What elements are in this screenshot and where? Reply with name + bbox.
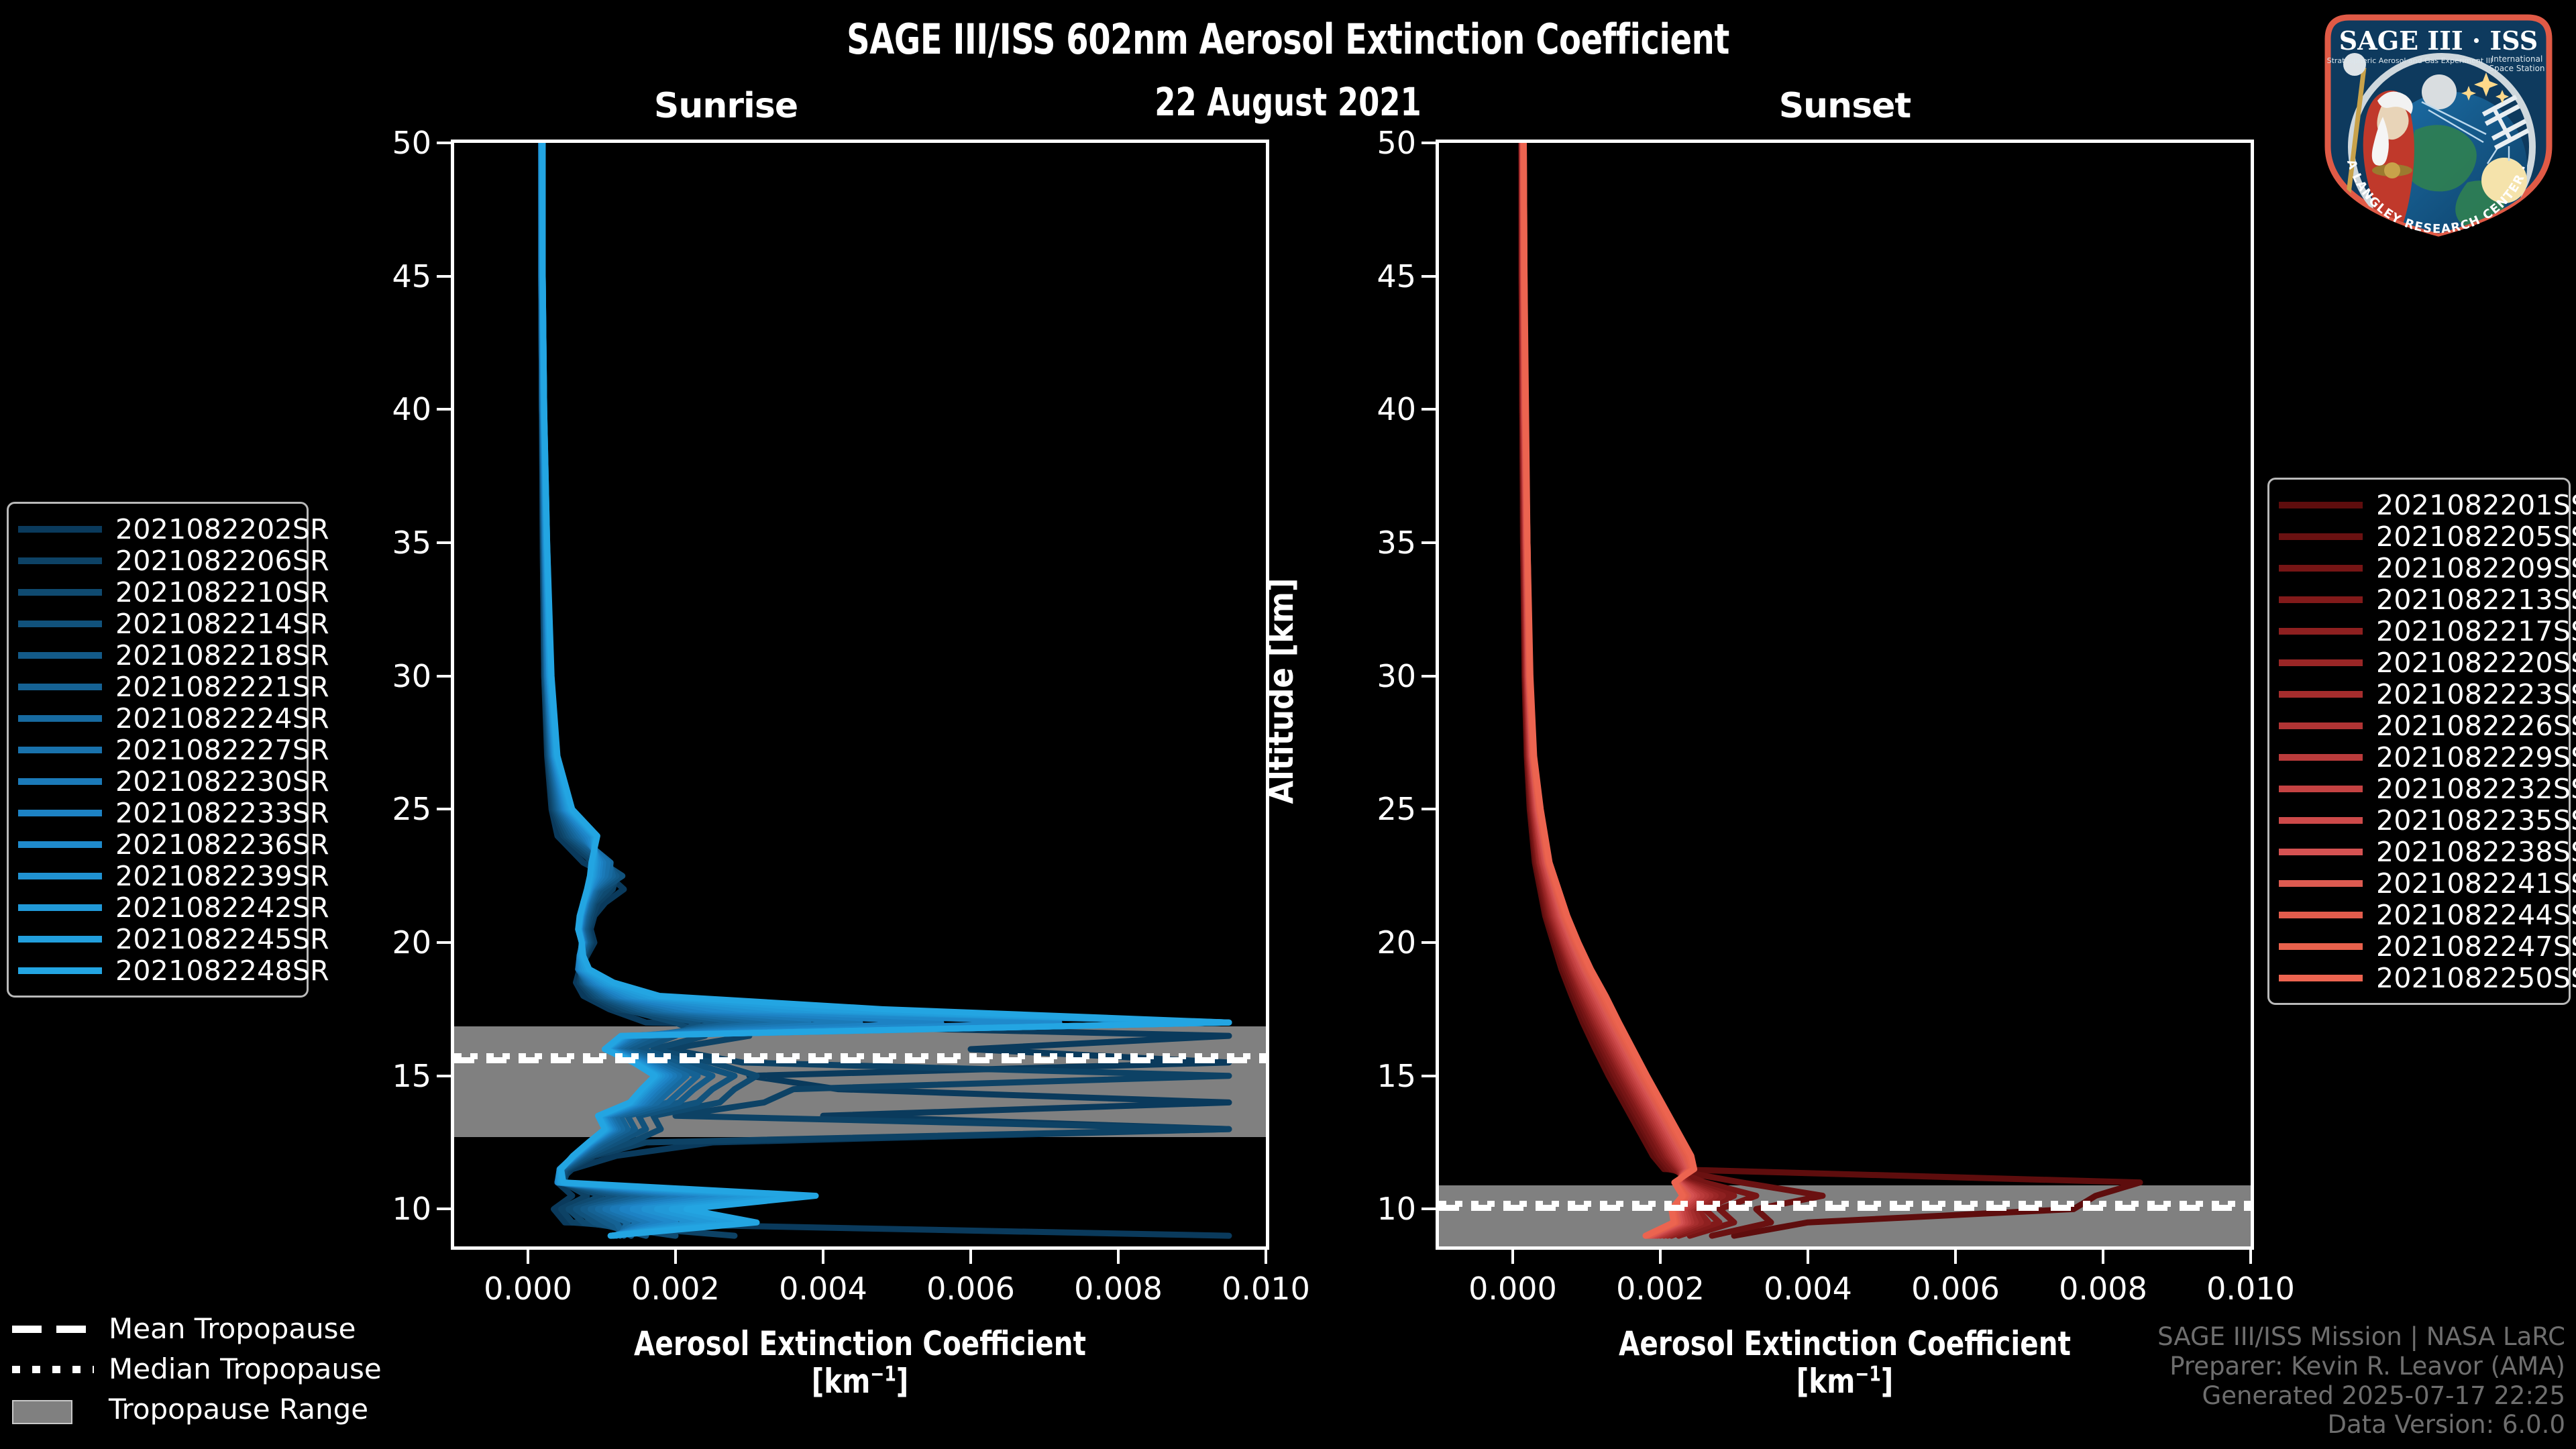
y-tick-label: 50 bbox=[1377, 125, 1416, 161]
legend-item-2021082247SS[interactable]: 2021082247SS bbox=[2279, 930, 2557, 962]
x-tick-label: 0.002 bbox=[1616, 1271, 1705, 1307]
sunset-legend[interactable]: 2021082201SS2021082205SS2021082209SS2021… bbox=[2267, 478, 2571, 1005]
legend-item-2021082206SR[interactable]: 2021082206SR bbox=[18, 545, 294, 576]
legend-item-2021082227SR[interactable]: 2021082227SR bbox=[18, 734, 294, 765]
legend-color-swatch bbox=[18, 841, 102, 848]
legend-color-swatch bbox=[2279, 628, 2363, 635]
y-tick-label: 15 bbox=[1377, 1058, 1416, 1094]
legend-color-swatch bbox=[2279, 817, 2363, 824]
sunrise-x-axis-title-line2: [km−1] bbox=[492, 1362, 1228, 1400]
y-tick-mark bbox=[1421, 541, 1439, 544]
legend-label: 2021082210SR bbox=[115, 576, 329, 608]
y-tick-label: 30 bbox=[1377, 658, 1416, 694]
legend-item-2021082205SS[interactable]: 2021082205SS bbox=[2279, 521, 2557, 552]
y-tick-mark bbox=[1421, 1207, 1439, 1210]
legend-color-swatch bbox=[2279, 943, 2363, 950]
legend-label: 2021082239SR bbox=[115, 860, 329, 892]
y-tick-mark bbox=[437, 941, 454, 944]
legend-label: 2021082241SS bbox=[2376, 867, 2576, 900]
y-tick-label: 40 bbox=[1377, 391, 1416, 427]
sunrise-plot-axes: 101520253035404550 0.0000.0020.0040.0060… bbox=[451, 140, 1269, 1250]
legend-item-2021082201SS[interactable]: 2021082201SS bbox=[2279, 489, 2557, 521]
legend-color-swatch bbox=[18, 967, 102, 974]
legend-label: 2021082229SS bbox=[2376, 741, 2576, 773]
series-line bbox=[1521, 143, 1823, 1236]
sage-iii-iss-mission-patch-logo: SAGE III · ISS Stratospheric Aerosol and… bbox=[2308, 3, 2569, 237]
x-tick-label: 0.008 bbox=[1074, 1271, 1163, 1307]
legend-item-2021082230SR[interactable]: 2021082230SR bbox=[18, 765, 294, 797]
legend-color-swatch bbox=[2279, 502, 2363, 508]
legend-color-swatch bbox=[18, 526, 102, 533]
legend-color-swatch bbox=[2279, 849, 2363, 855]
logo-subtitle-left: Stratospheric Aerosol and Gas Experiment… bbox=[2327, 56, 2493, 65]
legend-label: 2021082221SR bbox=[115, 671, 329, 703]
legend-color-swatch bbox=[18, 684, 102, 690]
legend-item-2021082220SS[interactable]: 2021082220SS bbox=[2279, 647, 2557, 678]
legend-label: 2021082233SR bbox=[115, 797, 329, 829]
legend-item-2021082235SS[interactable]: 2021082235SS bbox=[2279, 804, 2557, 836]
y-tick-label: 20 bbox=[392, 924, 431, 961]
legend-label: 2021082218SR bbox=[115, 639, 329, 672]
sunrise-panel-title: Sunrise bbox=[585, 86, 867, 126]
y-tick-label: 50 bbox=[392, 125, 431, 161]
legend-item-2021082209SS[interactable]: 2021082209SS bbox=[2279, 552, 2557, 584]
legend-label: 2021082245SR bbox=[115, 923, 329, 955]
y-tick-label: 35 bbox=[1377, 525, 1416, 561]
y-tick-mark bbox=[1421, 675, 1439, 678]
figure-root: SAGE III/ISS 602nm Aerosol Extinction Co… bbox=[0, 0, 2576, 1449]
x-tick-label: 0.004 bbox=[779, 1271, 867, 1307]
legend-label: 2021082201SS bbox=[2376, 489, 2576, 521]
legend-color-swatch bbox=[18, 747, 102, 753]
legend-label: 2021082226SS bbox=[2376, 710, 2576, 742]
y-tick-label: 45 bbox=[1377, 258, 1416, 294]
y-tick-mark bbox=[1421, 941, 1439, 944]
legend-color-swatch bbox=[18, 589, 102, 596]
y-tick-mark bbox=[437, 675, 454, 678]
legend-color-swatch bbox=[2279, 754, 2363, 761]
legend-label: 2021082227SR bbox=[115, 734, 329, 766]
y-tick-label: 25 bbox=[392, 791, 431, 827]
y-tick-mark bbox=[1421, 808, 1439, 810]
legend-label: 2021082209SS bbox=[2376, 552, 2576, 584]
x-tick-label: 0.000 bbox=[1468, 1271, 1557, 1307]
dashed-line-icon bbox=[12, 1320, 94, 1337]
legend-item-tropopause-range: Tropopause Range bbox=[12, 1389, 327, 1429]
legend-item-2021082221SR[interactable]: 2021082221SR bbox=[18, 671, 294, 702]
logo-subtitle-right-2: Space Station bbox=[2489, 64, 2544, 73]
legend-label: 2021082238SS bbox=[2376, 836, 2576, 868]
sunset-x-axis-title-line2: [km−1] bbox=[1477, 1362, 2213, 1400]
legend-label: 2021082232SS bbox=[2376, 773, 2576, 805]
legend-label: 2021082230SR bbox=[115, 765, 329, 798]
legend-item-2021082210SR[interactable]: 2021082210SR bbox=[18, 576, 294, 608]
legend-item-2021082202SR[interactable]: 2021082202SR bbox=[18, 513, 294, 545]
sunset-plot-axes: 101520253035404550 0.0000.0020.0040.0060… bbox=[1436, 140, 2254, 1250]
y-tick-mark bbox=[437, 808, 454, 810]
credits-preparer: Preparer: Kevin R. Leavor (AMA) bbox=[2157, 1352, 2565, 1381]
legend-item-2021082224SR[interactable]: 2021082224SR bbox=[18, 702, 294, 734]
x-tick-mark bbox=[1265, 1246, 1267, 1264]
x-tick-label: 0.002 bbox=[631, 1271, 720, 1307]
legend-color-swatch bbox=[18, 778, 102, 785]
legend-label: 2021082202SR bbox=[115, 513, 329, 545]
x-tick-label: 0.006 bbox=[1911, 1271, 2000, 1307]
x-tick-mark bbox=[527, 1246, 529, 1264]
y-tick-label: 25 bbox=[1377, 791, 1416, 827]
y-tick-mark bbox=[1421, 408, 1439, 411]
sunset-plot-area bbox=[1439, 143, 2251, 1246]
y-tick-mark bbox=[437, 275, 454, 278]
y-tick-label: 30 bbox=[392, 658, 431, 694]
y-tick-label: 35 bbox=[392, 525, 431, 561]
page-title: SAGE III/ISS 602nm Aerosol Extinction Co… bbox=[180, 15, 2396, 64]
sunrise-legend[interactable]: 2021082202SR2021082206SR2021082210SR2021… bbox=[7, 502, 309, 998]
y-tick-mark bbox=[437, 541, 454, 544]
legend-color-swatch bbox=[2279, 912, 2363, 918]
legend-item-2021082233SR[interactable]: 2021082233SR bbox=[18, 797, 294, 828]
y-tick-label: 20 bbox=[1377, 924, 1416, 961]
x-tick-label: 0.008 bbox=[2059, 1271, 2147, 1307]
legend-label: 2021082250SS bbox=[2376, 962, 2576, 994]
legend-item-2021082250SS[interactable]: 2021082250SS bbox=[2279, 962, 2557, 994]
legend-label: 2021082248SR bbox=[115, 955, 329, 987]
legend-label: 2021082247SS bbox=[2376, 930, 2576, 963]
legend-label-median-tropopause: Median Tropopause bbox=[109, 1352, 382, 1385]
y-tick-mark bbox=[1421, 1075, 1439, 1077]
filled-box-icon bbox=[12, 1400, 94, 1417]
sunset-panel-title: Sunset bbox=[1704, 86, 1986, 126]
legend-item-mean-tropopause: Mean Tropopause bbox=[12, 1308, 327, 1348]
x-tick-label: 0.010 bbox=[1222, 1271, 1310, 1307]
legend-label: 2021082205SS bbox=[2376, 521, 2576, 553]
legend-color-swatch bbox=[2279, 533, 2363, 540]
sunrise-x-axis-title: Aerosol Extinction Coefficient [km−1] bbox=[492, 1325, 1228, 1400]
legend-item-2021082242SR[interactable]: 2021082242SR bbox=[18, 892, 294, 923]
legend-color-swatch bbox=[2279, 691, 2363, 698]
legend-color-swatch bbox=[2279, 880, 2363, 887]
sunset-series-canvas bbox=[1439, 143, 2251, 1246]
x-tick-label: 0.010 bbox=[2206, 1271, 2295, 1307]
y-tick-label: 40 bbox=[392, 391, 431, 427]
y-tick-mark bbox=[437, 408, 454, 411]
legend-label-tropopause-range: Tropopause Range bbox=[109, 1393, 368, 1426]
legend-color-swatch bbox=[18, 715, 102, 722]
legend-item-2021082248SR[interactable]: 2021082248SR bbox=[18, 955, 294, 986]
legend-item-2021082213SS[interactable]: 2021082213SS bbox=[2279, 584, 2557, 615]
legend-color-swatch bbox=[18, 810, 102, 816]
y-tick-mark bbox=[1421, 142, 1439, 144]
series-line bbox=[541, 143, 808, 1236]
y-tick-label: 15 bbox=[392, 1058, 431, 1094]
legend-item-2021082226SS[interactable]: 2021082226SS bbox=[2279, 710, 2557, 741]
legend-item-2021082238SS[interactable]: 2021082238SS bbox=[2279, 836, 2557, 867]
legend-color-swatch bbox=[2279, 786, 2363, 792]
legend-label: 2021082236SR bbox=[115, 828, 329, 861]
legend-label: 2021082217SS bbox=[2376, 615, 2576, 647]
legend-color-swatch bbox=[18, 621, 102, 627]
credits-data-version: Data Version: 6.0.0 bbox=[2157, 1410, 2565, 1440]
legend-item-2021082218SR[interactable]: 2021082218SR bbox=[18, 639, 294, 671]
legend-label: 2021082223SS bbox=[2376, 678, 2576, 710]
y-tick-label: 10 bbox=[392, 1191, 431, 1227]
x-tick-mark bbox=[1659, 1246, 1662, 1264]
x-tick-mark bbox=[674, 1246, 677, 1264]
x-tick-mark bbox=[822, 1246, 824, 1264]
logo-title: SAGE III · ISS bbox=[2339, 25, 2538, 56]
legend-item-2021082214SR[interactable]: 2021082214SR bbox=[18, 608, 294, 639]
legend-item-2021082223SS[interactable]: 2021082223SS bbox=[2279, 678, 2557, 710]
x-tick-mark bbox=[1807, 1246, 1809, 1264]
x-tick-mark bbox=[2102, 1246, 2104, 1264]
x-tick-label: 0.000 bbox=[484, 1271, 572, 1307]
credits-mission: SAGE III/ISS Mission | NASA LaRC bbox=[2157, 1322, 2565, 1352]
sunset-x-axis-title-line1: Aerosol Extinction Coefficient bbox=[1477, 1325, 2213, 1362]
dotted-line-icon bbox=[12, 1360, 94, 1377]
legend-item-2021082239SR[interactable]: 2021082239SR bbox=[18, 860, 294, 892]
legend-color-swatch bbox=[18, 652, 102, 659]
legend-color-swatch bbox=[18, 904, 102, 911]
sunrise-median-tropopause-line bbox=[454, 1053, 1266, 1059]
legend-color-swatch bbox=[2279, 565, 2363, 572]
y-tick-mark bbox=[437, 142, 454, 144]
sunset-x-axis-title: Aerosol Extinction Coefficient [km−1] bbox=[1477, 1325, 2213, 1400]
x-tick-mark bbox=[969, 1246, 972, 1264]
y-tick-label: 45 bbox=[392, 258, 431, 294]
legend-item-median-tropopause: Median Tropopause bbox=[12, 1348, 327, 1389]
legend-color-swatch bbox=[2279, 722, 2363, 729]
x-tick-mark bbox=[1954, 1246, 1957, 1264]
legend-label-mean-tropopause: Mean Tropopause bbox=[109, 1312, 356, 1345]
legend-color-swatch bbox=[18, 557, 102, 564]
sunset-y-axis-title: Altitude [km] bbox=[1262, 578, 1301, 804]
x-tick-label: 0.006 bbox=[926, 1271, 1015, 1307]
logo-subtitle-right-1: International bbox=[2491, 54, 2543, 64]
legend-item-2021082241SS[interactable]: 2021082241SS bbox=[2279, 867, 2557, 899]
sunrise-plot-area bbox=[454, 143, 1266, 1246]
x-tick-mark bbox=[1511, 1246, 1514, 1264]
y-tick-label: 10 bbox=[1377, 1191, 1416, 1227]
legend-color-swatch bbox=[18, 936, 102, 943]
credits-generated: Generated 2025-07-17 22:25 bbox=[2157, 1381, 2565, 1411]
tropopause-legend: Mean Tropopause Median Tropopause Tropop… bbox=[12, 1308, 327, 1429]
date-title: 22 August 2021 bbox=[180, 79, 2396, 125]
legend-label: 2021082244SS bbox=[2376, 899, 2576, 931]
legend-item-2021082232SS[interactable]: 2021082232SS bbox=[2279, 773, 2557, 804]
sunset-median-tropopause-line bbox=[1439, 1201, 2251, 1207]
y-tick-mark bbox=[1421, 275, 1439, 278]
sunrise-series-canvas bbox=[454, 143, 1266, 1246]
x-tick-mark bbox=[1117, 1246, 1120, 1264]
legend-label: 2021082235SS bbox=[2376, 804, 2576, 837]
legend-color-swatch bbox=[2279, 975, 2363, 981]
x-tick-label: 0.004 bbox=[1764, 1271, 1852, 1307]
x-tick-mark bbox=[2249, 1246, 2252, 1264]
y-tick-mark bbox=[437, 1207, 454, 1210]
legend-item-2021082217SS[interactable]: 2021082217SS bbox=[2279, 615, 2557, 647]
legend-label: 2021082224SR bbox=[115, 702, 329, 735]
legend-color-swatch bbox=[18, 873, 102, 879]
credits-block: SAGE III/ISS Mission | NASA LaRC Prepare… bbox=[2157, 1322, 2565, 1440]
legend-item-2021082229SS[interactable]: 2021082229SS bbox=[2279, 741, 2557, 773]
legend-color-swatch bbox=[2279, 659, 2363, 666]
legend-label: 2021082213SS bbox=[2376, 584, 2576, 616]
legend-color-swatch bbox=[2279, 596, 2363, 603]
sunrise-x-axis-title-line1: Aerosol Extinction Coefficient bbox=[492, 1325, 1228, 1362]
legend-label: 2021082220SS bbox=[2376, 647, 2576, 679]
legend-item-2021082244SS[interactable]: 2021082244SS bbox=[2279, 899, 2557, 930]
legend-label: 2021082242SR bbox=[115, 892, 329, 924]
legend-item-2021082236SR[interactable]: 2021082236SR bbox=[18, 828, 294, 860]
legend-item-2021082245SR[interactable]: 2021082245SR bbox=[18, 923, 294, 955]
y-tick-mark bbox=[437, 1075, 454, 1077]
legend-label: 2021082214SR bbox=[115, 608, 329, 640]
legend-label: 2021082206SR bbox=[115, 545, 329, 577]
